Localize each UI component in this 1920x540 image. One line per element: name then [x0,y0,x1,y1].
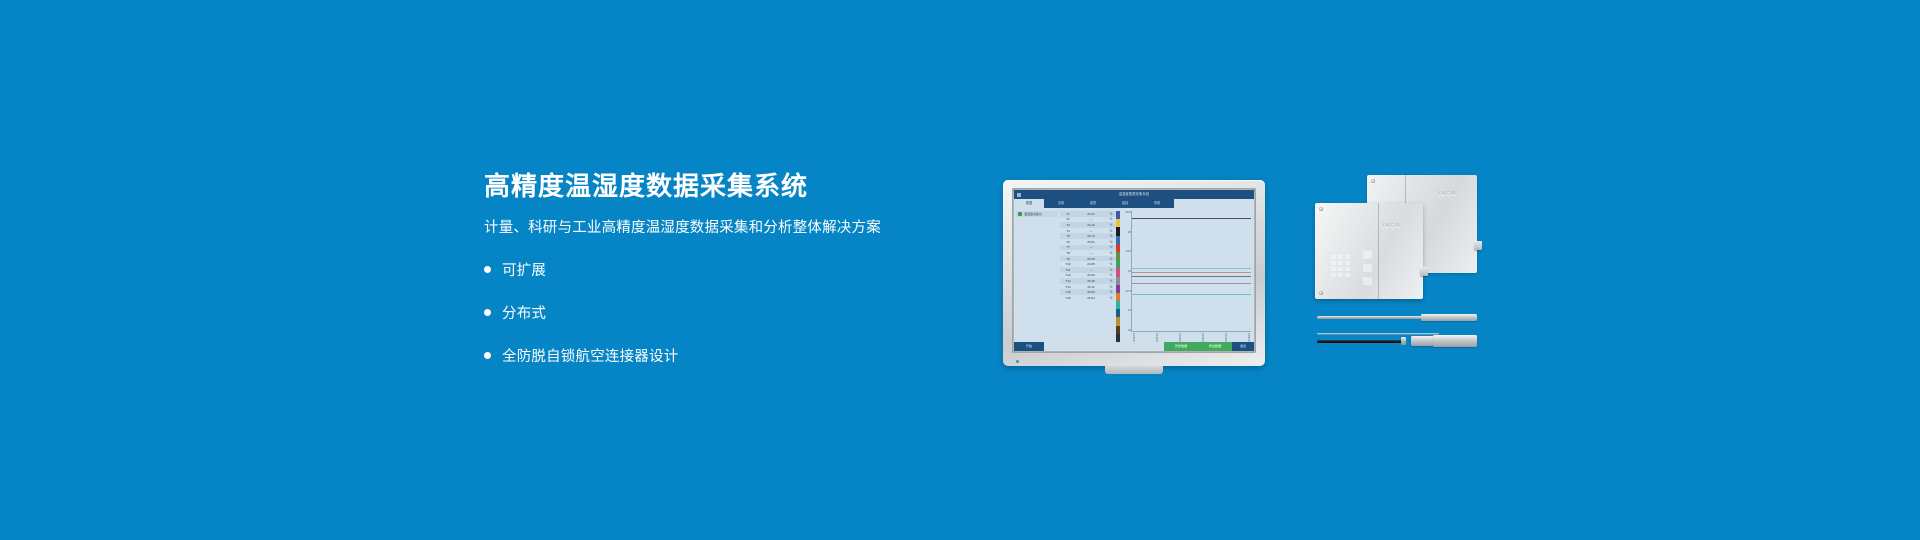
channel-value: --- [1076,217,1106,221]
screw-icon [1319,207,1323,211]
table-row[interactable]: T625.81℃ [1060,239,1116,245]
table-row[interactable]: T324.19℃ [1060,222,1116,228]
screw-icon [1371,179,1375,183]
tab-help[interactable]: 帮助 [1142,199,1172,208]
channel-unit: ℃ [1106,223,1116,227]
screw-icon [1319,291,1323,295]
channel-value: 25.94 [1076,296,1106,300]
keypad-panel-icon [1331,255,1361,283]
channel-unit: ℃ [1106,245,1116,249]
channel-id: T4 [1060,229,1076,233]
banner-copy: 高精度温湿度数据采集系统 计量、科研与工业高精度温湿度数据采集和分析整体解决方案… [484,172,954,366]
display-glyphs-icon [1363,251,1383,287]
table-row[interactable]: T1225.90℃ [1060,273,1116,279]
table-row[interactable]: T2---℃ [1060,217,1116,223]
chart-plot-wrapper: 10:00:0010:10:0010:20:0010:30:0010:40:00… [1131,211,1251,342]
channel-id: T5 [1060,234,1076,238]
device-tree-panel: 温湿度采集仪 [1014,208,1060,342]
table-row[interactable]: T526.12℃ [1060,233,1116,239]
table-row[interactable]: T7---℃ [1060,245,1116,251]
channel-unit: ℃ [1106,251,1116,255]
table-row[interactable]: T1024.88℃ [1060,261,1116,267]
feature-label: 可扩展 [502,259,546,280]
channel-unit: ℃ [1106,240,1116,244]
footer-spacer [1044,342,1164,351]
chart-plot-area [1131,211,1251,332]
chart-series-line [1132,272,1251,273]
probe-connector-body [1411,336,1435,346]
channel-id: T16 [1060,296,1076,300]
x-tick-label: 10:50:00 [1247,333,1250,342]
channel-value: 26.38 [1076,257,1106,261]
x-tick-label: 10:10:00 [1155,333,1158,342]
feature-item-1: 可扩展 [484,259,954,280]
bullet-dot-icon [484,309,491,316]
power-led-icon [1016,360,1019,363]
channel-id: T3 [1060,223,1076,227]
export-data-button[interactable]: 导出数据 [1198,342,1232,351]
panel-monitor: 温湿度数据采集系统 数据 设置 报表 曲线 帮助 温湿度采集仪 [1003,180,1265,366]
app-body: 温湿度采集仪 T121.01℃T2---℃T324.19℃T4---℃T526.… [1014,208,1254,342]
feature-label: 分布式 [502,302,546,323]
channel-id: T9 [1060,257,1076,261]
page-title: 高精度温湿度数据采集系统 [484,172,954,201]
channel-value: --- [1076,251,1106,255]
feature-item-2: 分布式 [484,302,954,323]
temperature-probe-steel [1317,311,1477,323]
app-footer-toolbar: 开始 历史数据 导出数据 退出 [1014,342,1254,351]
chart-y-axis: 26.52524.52322.52120 [1122,211,1131,342]
channel-unit: ℃ [1106,296,1116,300]
exit-button[interactable]: 退出 [1232,342,1254,351]
channel-unit: ℃ [1106,290,1116,294]
table-row[interactable]: T1326.28℃ [1060,278,1116,284]
chart-series-line [1132,276,1251,277]
feature-list: 可扩展 分布式 全防脱自锁航空连接器设计 [484,259,954,366]
tab-settings[interactable]: 设置 [1046,199,1076,208]
bullet-dot-icon [484,352,491,359]
channel-id: T14 [1060,285,1076,289]
table-row[interactable]: T11---℃ [1060,267,1116,273]
history-data-button[interactable]: 历史数据 [1164,342,1198,351]
channel-value: 24.88 [1076,262,1106,266]
feature-item-3: 全防脱自锁航空连接器设计 [484,345,954,366]
x-tick-label: 10:00:00 [1132,333,1135,342]
feature-label: 全防脱自锁航空连接器设计 [502,345,678,366]
channel-id: T11 [1060,268,1076,272]
app-window-title: 温湿度数据采集系统 [1014,190,1254,199]
chart-series-line [1132,268,1251,269]
hero-banner: 高精度温湿度数据采集系统 计量、科研与工业高精度温湿度数据采集和分析整体解决方案… [0,0,1920,540]
tab-curve[interactable]: 曲线 [1110,199,1140,208]
tree-node-label: 温湿度采集仪 [1024,212,1042,216]
channel-id: T12 [1060,273,1076,277]
channel-unit: ℃ [1106,273,1116,277]
channel-id: T8 [1060,251,1076,255]
connector-port [1420,267,1428,276]
channel-value: 21.01 [1076,212,1106,216]
monitor-screen-frame: 温湿度数据采集系统 数据 设置 报表 曲线 帮助 温湿度采集仪 [1012,188,1256,353]
channel-unit: ℃ [1106,212,1116,216]
chart-series-line [1132,283,1251,284]
table-row[interactable]: T121.01℃ [1060,211,1116,217]
table-row[interactable]: T1526.90℃ [1060,289,1116,295]
channel-unit: ℃ [1106,217,1116,221]
table-row[interactable]: T1426.11℃ [1060,284,1116,290]
tree-node-root[interactable]: 温湿度采集仪 [1016,211,1058,217]
tab-report[interactable]: 报表 [1078,199,1108,208]
monitor-stand [1105,366,1163,374]
tab-data[interactable]: 数据 [1014,199,1044,208]
chart-series-line [1132,218,1251,219]
humidity-probe-assembly [1317,335,1477,349]
probe-rod [1317,316,1425,319]
channel-value: 26.28 [1076,279,1106,283]
channel-value: --- [1076,229,1106,233]
device-status-icon [1018,212,1022,216]
probe-tip [1421,314,1477,321]
app-tabbar: 数据 设置 报表 曲线 帮助 [1014,199,1254,208]
probe-strain-relief [1401,337,1406,345]
channel-value: 26.90 [1076,290,1106,294]
channel-table: T121.01℃T2---℃T324.19℃T4---℃T526.12℃T625… [1060,208,1116,342]
channel-value: 26.11 [1076,285,1106,289]
x-tick-label: 10:30:00 [1201,333,1204,342]
probe-sensor-head [1433,335,1477,347]
chart-x-axis: 10:00:0010:10:0010:20:0010:30:0010:40:00… [1131,332,1251,342]
channel-unit: ℃ [1106,268,1116,272]
channel-unit: ℃ [1106,285,1116,289]
brand-logo: INON [1439,191,1457,197]
trend-chart: 26.52524.52322.52120 10:00:0010:10:0010:… [1120,208,1254,342]
channel-id: T15 [1060,290,1076,294]
tabbar-filler [1174,199,1254,208]
channel-value: 26.12 [1076,234,1106,238]
app-titlebar: 温湿度数据采集系统 [1014,190,1254,199]
table-row[interactable]: T4---℃ [1060,228,1116,234]
table-row[interactable]: T926.38℃ [1060,256,1116,262]
product-photos: INON INON [1315,175,1480,350]
channel-unit: ℃ [1106,257,1116,261]
chart-series-line [1132,294,1251,295]
page-subtitle: 计量、科研与工业高精度温湿度数据采集和分析整体解决方案 [484,219,954,238]
connector-port [1474,241,1482,250]
channel-unit: ℃ [1106,229,1116,233]
channel-id: T7 [1060,245,1076,249]
channel-unit: ℃ [1106,234,1116,238]
data-logger-enclosure-front: INON [1315,203,1423,299]
channel-id: T1 [1060,212,1076,216]
channel-id: T6 [1060,240,1076,244]
channel-unit: ℃ [1106,279,1116,283]
channel-unit: ℃ [1106,262,1116,266]
table-row[interactable]: T1625.94℃ [1060,295,1116,301]
channel-id: T13 [1060,279,1076,283]
bullet-dot-icon [484,266,491,273]
channel-id: T2 [1060,217,1076,221]
x-tick-label: 10:40:00 [1224,333,1227,342]
channel-value: 25.81 [1076,240,1106,244]
x-tick-label: 10:20:00 [1178,333,1181,342]
channel-value: 25.90 [1076,273,1106,277]
channel-id: T10 [1060,262,1076,266]
software-screen: 温湿度数据采集系统 数据 设置 报表 曲线 帮助 温湿度采集仪 [1014,190,1254,351]
table-row[interactable]: T8---℃ [1060,250,1116,256]
probe-cable-black [1317,340,1405,343]
brand-logo: INON [1383,223,1401,229]
start-button[interactable]: 开始 [1014,342,1044,351]
channel-value: 24.19 [1076,223,1106,227]
channel-value: --- [1076,268,1106,272]
channel-value: --- [1076,245,1106,249]
